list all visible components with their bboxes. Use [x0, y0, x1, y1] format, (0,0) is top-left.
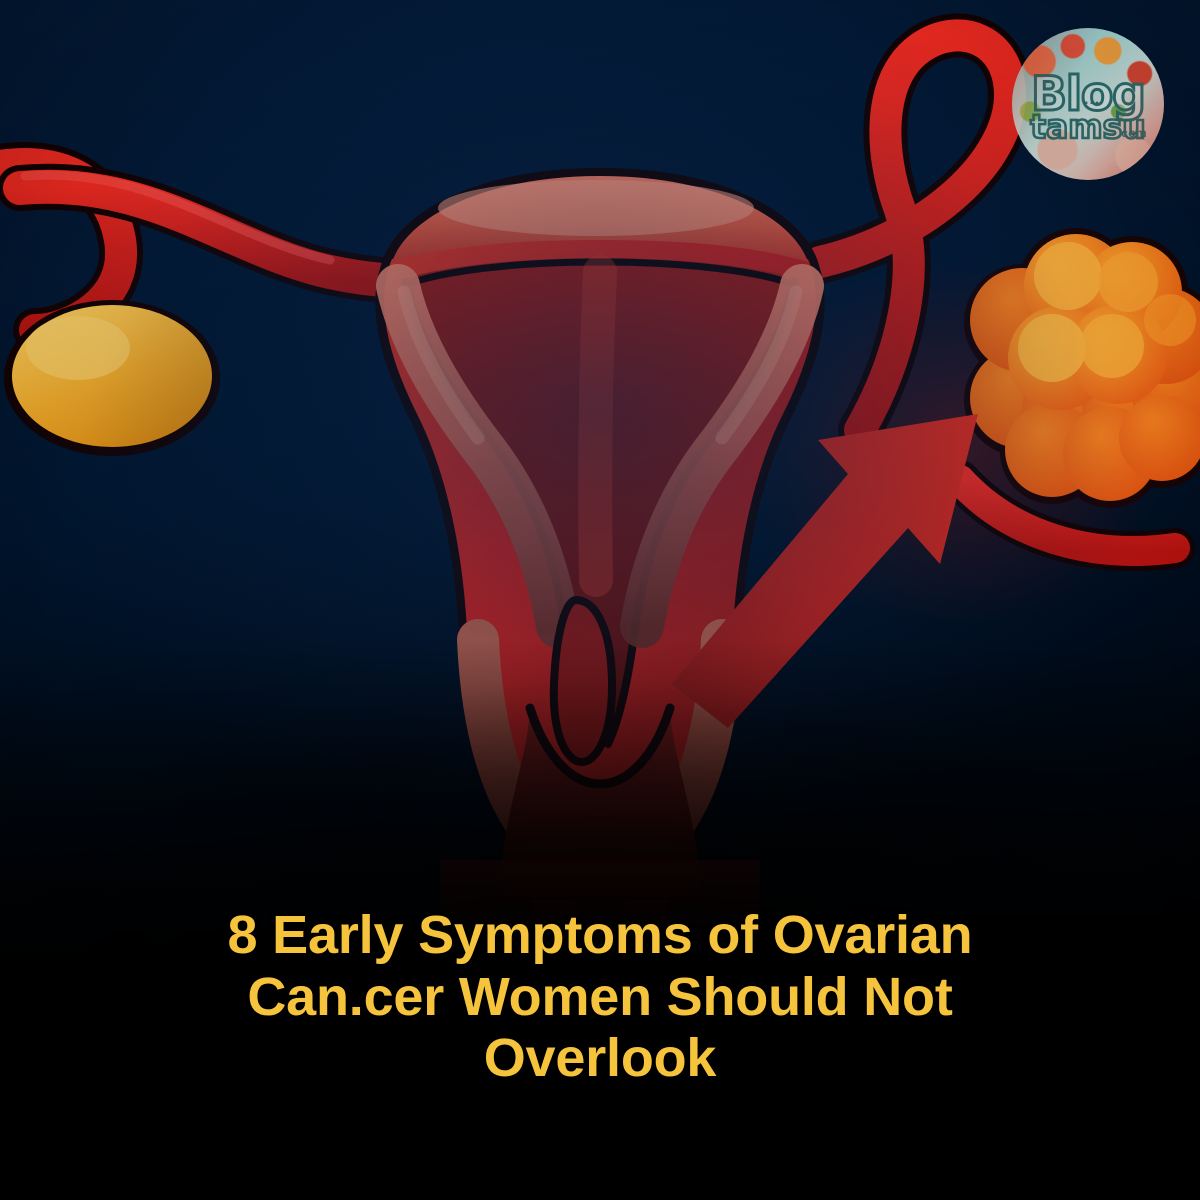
- logo-dots: ...: [1084, 91, 1100, 109]
- poster-title-block: 8 Early Symptoms of Ovarian Can.cer Wome…: [160, 905, 1040, 1090]
- left-ovary: [4, 300, 220, 456]
- uterus: [375, 168, 824, 880]
- blogtamsu-logo[interactable]: Blog tamsu ... .com: [1012, 28, 1164, 180]
- logo-tld-text: .com: [1117, 126, 1147, 140]
- fundus-highlight: [438, 180, 754, 236]
- poster-canvas: Blog tamsu ... .com 8 Early Symptoms of …: [0, 0, 1200, 1200]
- ovarian-tumor-mass: [964, 228, 1200, 508]
- page-title: 8 Early Symptoms of Ovarian Can.cer Wome…: [160, 905, 1040, 1090]
